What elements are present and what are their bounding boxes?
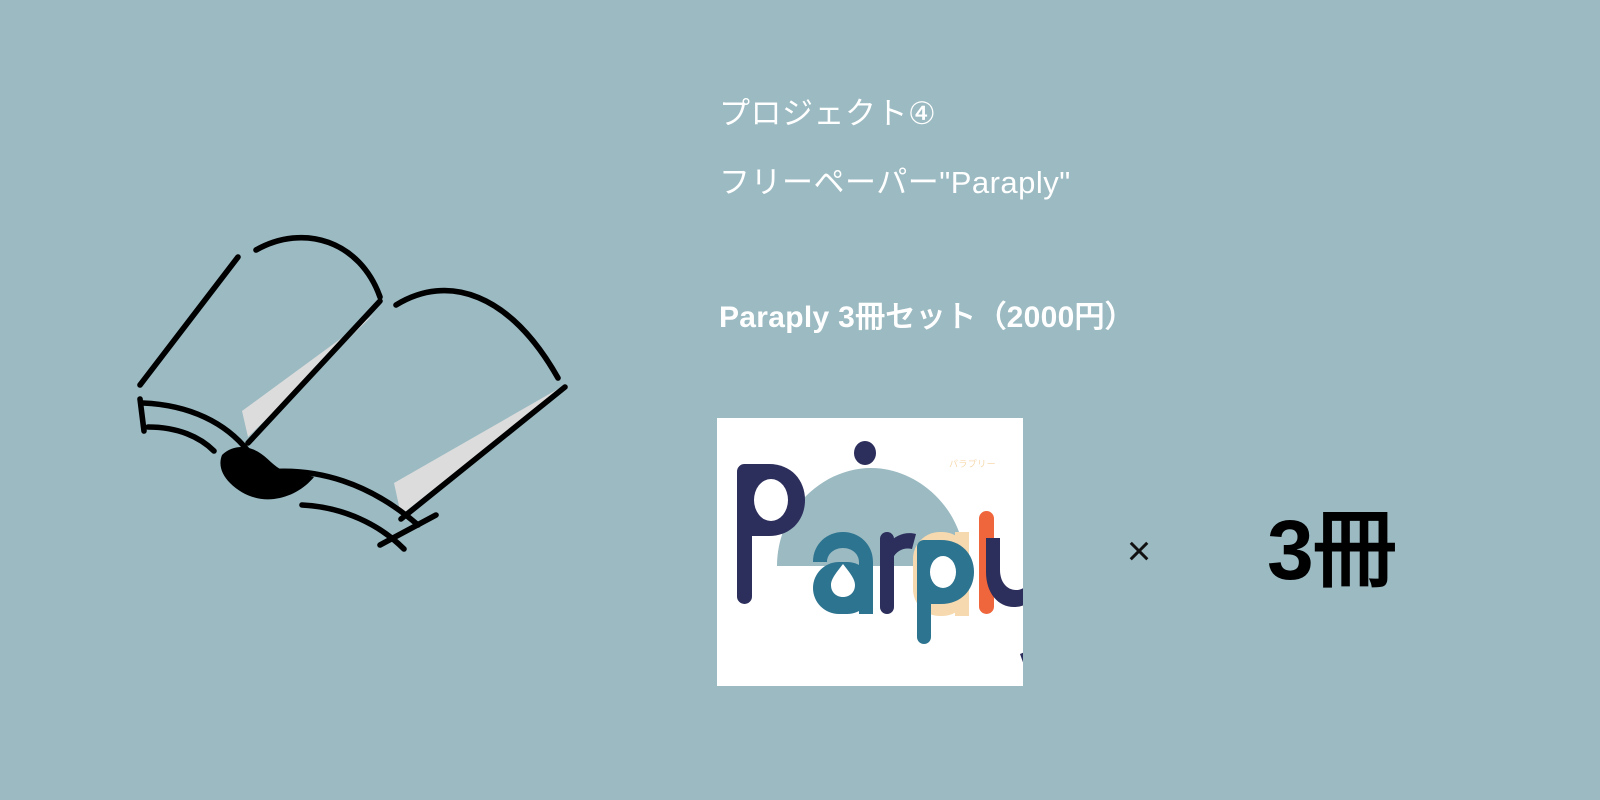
letter-r-navy (880, 532, 916, 614)
offer-title: Paraply 3冊セット（2000円） (719, 303, 1135, 333)
project-label: プロジェクト④ (719, 98, 936, 129)
multiply-icon: × (1109, 530, 1169, 572)
umbrella-finial (854, 441, 876, 465)
letter-p-teal (917, 540, 974, 644)
kana-subtitle: パラプリー (949, 459, 996, 469)
book-ink-strokes (140, 238, 565, 549)
quantity-label: 3冊 (1267, 508, 1396, 592)
open-book-illustration (118, 215, 588, 565)
slide-canvas: プロジェクト④ フリーペーパー"Paraply" Paraply 3冊セット（2… (0, 0, 1600, 800)
letter-a-teal (813, 532, 873, 614)
product-card[interactable]: パラプリー (717, 418, 1023, 686)
content-column: プロジェクト④ フリーペーパー"Paraply" Paraply 3冊セット（2… (717, 0, 1597, 800)
product-row: パラプリー × 3冊 (717, 418, 1597, 688)
project-subtitle: フリーペーパー"Paraply" (719, 167, 1071, 198)
